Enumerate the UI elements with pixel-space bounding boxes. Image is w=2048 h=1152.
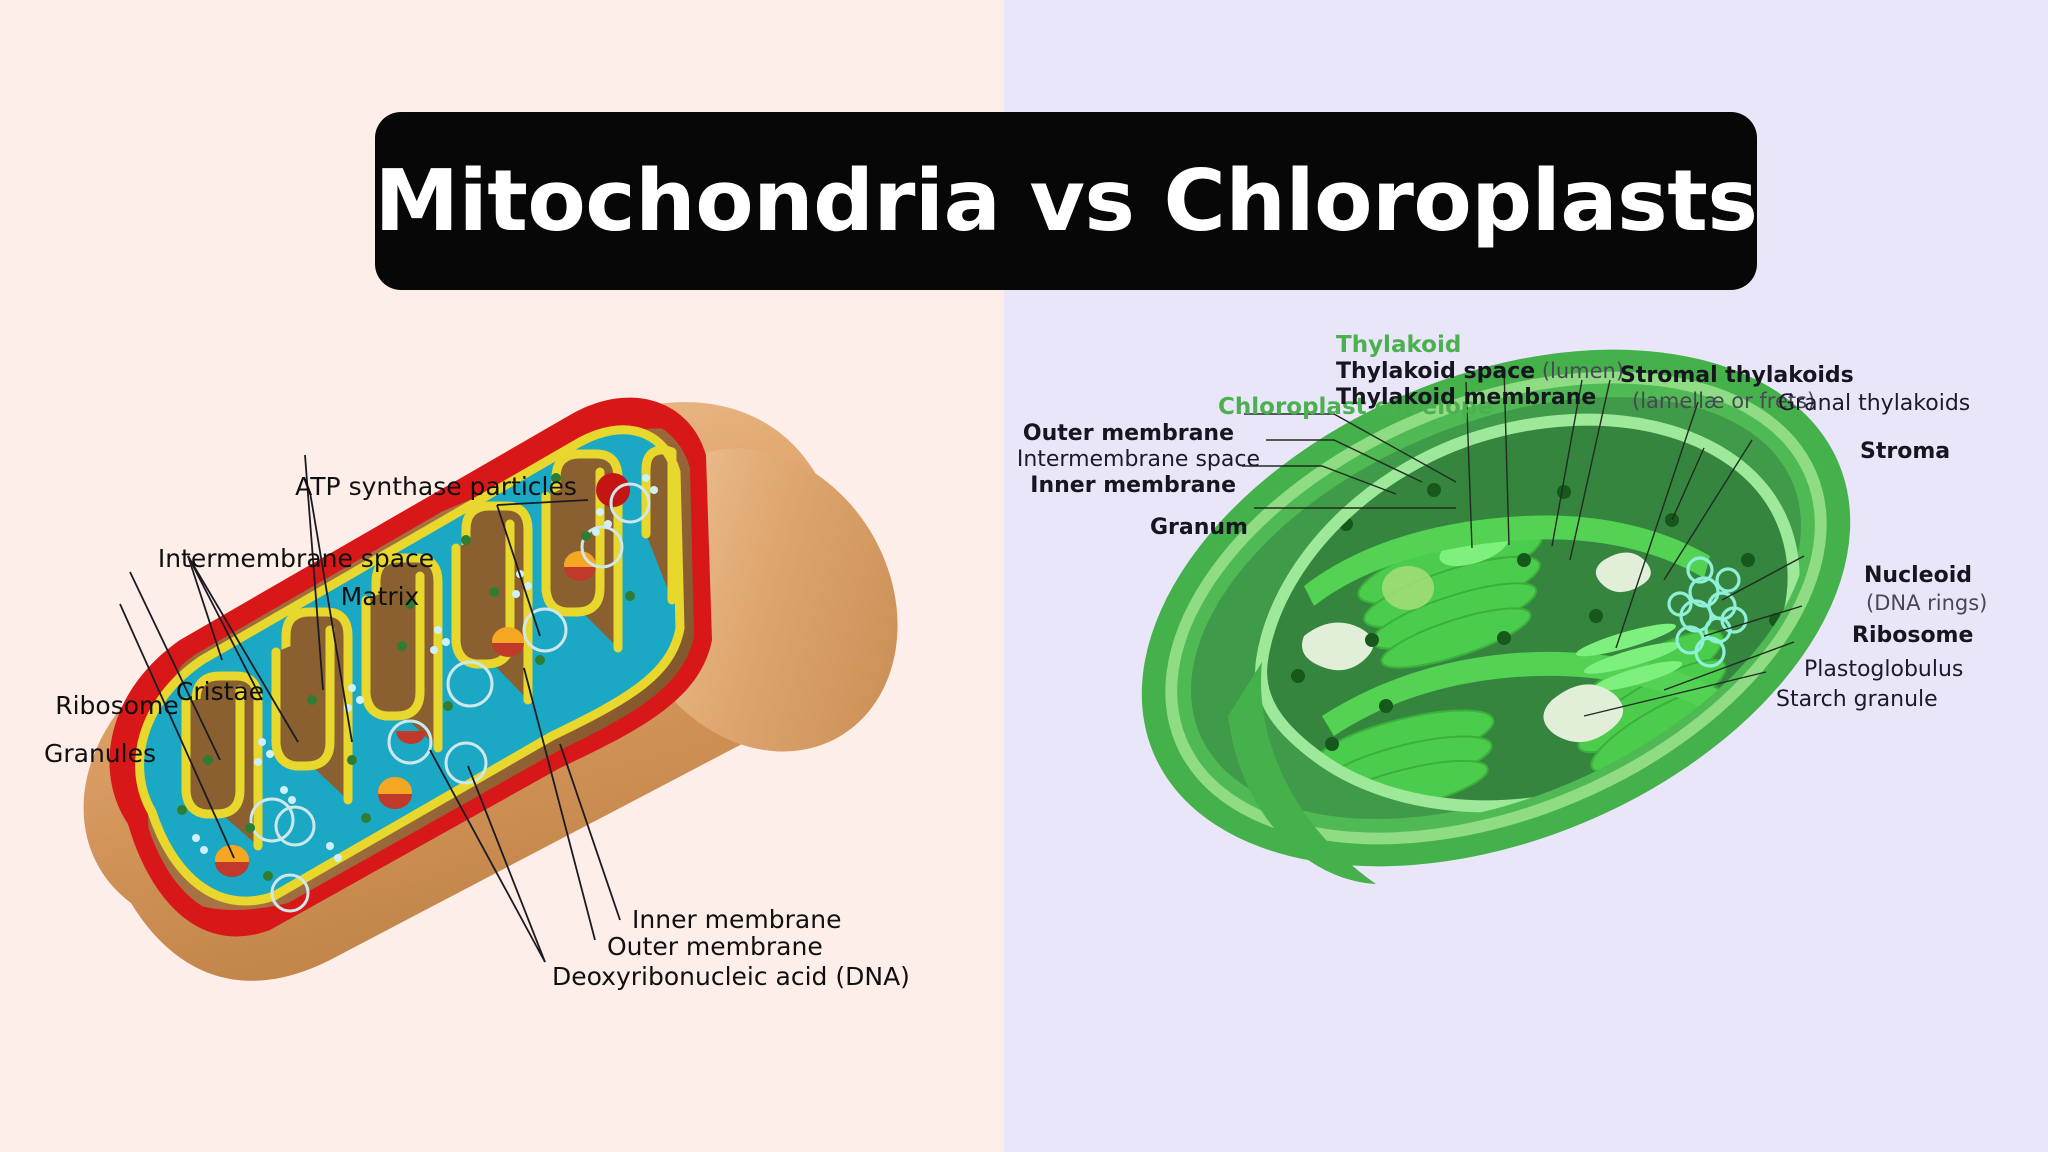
label-stroma: Stroma xyxy=(1860,439,1950,464)
chloroplast-illustration: Thylakoid Chloroplast envelope Thylakoid… xyxy=(1004,0,2048,1152)
label-intermembrane-space: Intermembrane space xyxy=(1017,447,1260,472)
label-granum: Granum xyxy=(1150,515,1248,540)
mitochondrion-panel: ATP synthase particles Intermembrane spa… xyxy=(0,0,1004,1152)
label-intermembrane-space: Intermembrane space xyxy=(158,544,434,573)
label-nucleoid-sub: (DNA rings) xyxy=(1866,591,1987,615)
label-matrix: Matrix xyxy=(341,582,420,611)
label-inner-membrane: Inner membrane xyxy=(1030,473,1236,498)
label-outer-membrane: Outer membrane xyxy=(607,932,823,961)
label-stromal-thylakoids: Stromal thylakoids xyxy=(1620,363,1854,388)
label-granal-thylakoids: Granal thylakoids xyxy=(1778,391,1970,416)
header-thylakoid: Thylakoid xyxy=(1336,332,1461,358)
label-cristae: Cristae xyxy=(176,677,264,706)
diagram-canvas: Mitochondria vs Chloroplasts xyxy=(0,0,2048,1152)
label-nucleoid: Nucleoid xyxy=(1864,563,1972,588)
label-thylakoid-space: Thylakoid space (lumen) xyxy=(1336,359,1624,384)
label-atp-synthase-particles: ATP synthase particles xyxy=(295,472,577,501)
label-dna: Deoxyribonucleic acid (DNA) xyxy=(552,962,910,991)
plastoglobulus-upper xyxy=(1382,566,1434,610)
label-inner-membrane: Inner membrane xyxy=(632,905,841,934)
label-plastoglobulus: Plastoglobulus xyxy=(1804,657,1963,682)
label-ribosome: Ribosome xyxy=(55,691,179,720)
label-ribosome: Ribosome xyxy=(1852,623,1973,648)
chloroplast-panel: Thylakoid Chloroplast envelope Thylakoid… xyxy=(1004,0,2048,1152)
mitochondrion-illustration: ATP synthase particles Intermembrane spa… xyxy=(0,0,1004,1152)
label-starch-granule: Starch granule xyxy=(1776,687,1938,712)
label-thylakoid-membrane: Thylakoid membrane xyxy=(1336,385,1596,410)
label-granules: Granules xyxy=(44,739,156,768)
label-outer-membrane: Outer membrane xyxy=(1023,421,1234,446)
